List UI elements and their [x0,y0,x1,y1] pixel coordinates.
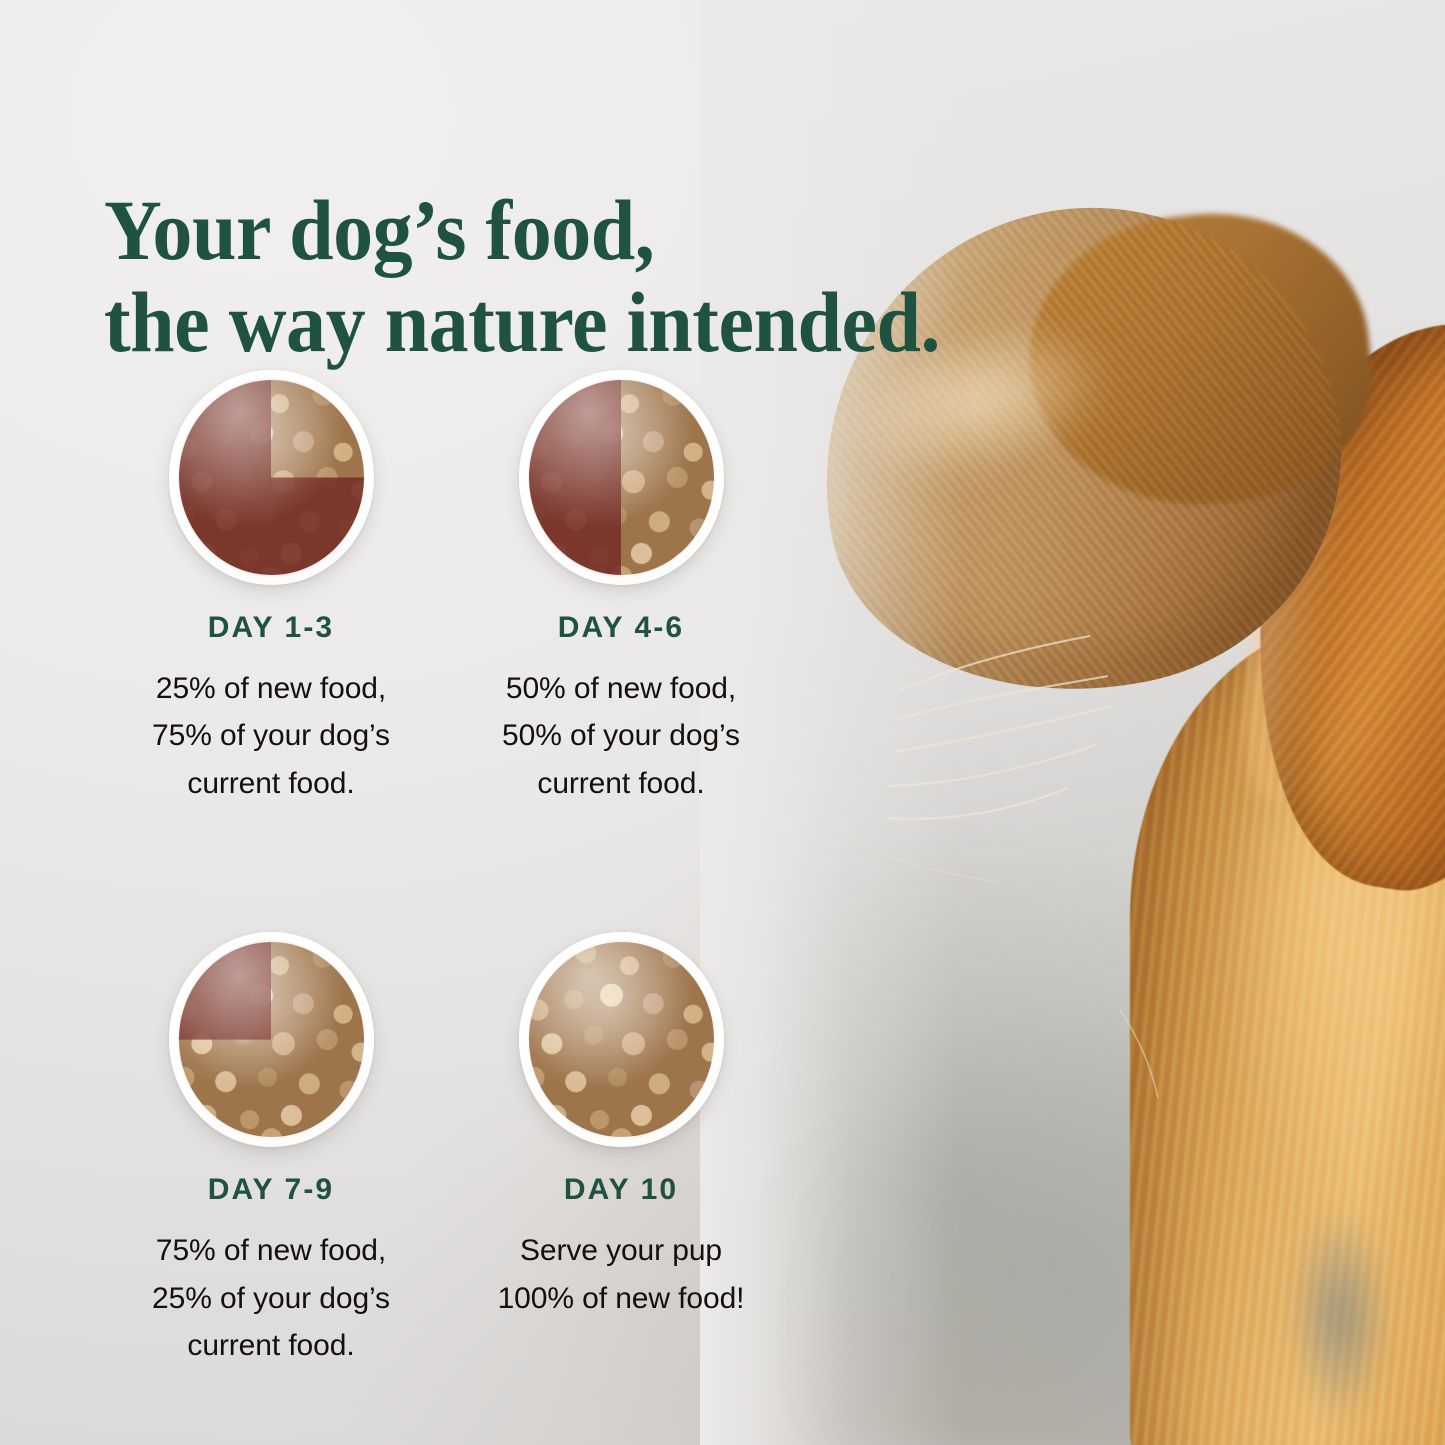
bowl-dish [169,370,374,585]
steps-row-top: DAY 1-3 25% of new food, 75% of your dog… [96,370,796,807]
step-day-1-3: DAY 1-3 25% of new food, 75% of your dog… [96,370,446,807]
old-food-overlay [178,940,365,1139]
bowl-contents [178,940,365,1139]
transition-steps: DAY 1-3 25% of new food, 75% of your dog… [96,370,796,1369]
desc-line: 25% of your dog’s [96,1275,446,1322]
desc-line: current food. [96,1322,446,1369]
desc-line: 75% of your dog’s [96,712,446,759]
step-description: 75% of new food, 25% of your dog’s curre… [96,1227,446,1369]
steps-row-bottom: DAY 7-9 75% of new food, 25% of your dog… [96,932,796,1369]
bowl-contents [528,378,715,577]
desc-line: current food. [96,760,446,807]
desc-line: 75% of new food, [96,1227,446,1274]
desc-line: Serve your pup [446,1227,796,1274]
step-day-4-6: DAY 4-6 50% of new food, 50% of your dog… [446,370,796,807]
desc-line: 25% of new food, [96,665,446,712]
bowl-contents [178,378,365,577]
step-day-10: DAY 10 Serve your pup 100% of new food! [446,932,796,1369]
headline-line-1: Your dog’s food, [104,182,654,278]
bowl-day-7-9 [169,932,374,1147]
desc-line: 50% of your dog’s [446,712,796,759]
bowl-dish [519,932,724,1147]
step-description: 50% of new food, 50% of your dog’s curre… [446,665,796,807]
bowl-day-4-6 [519,370,724,585]
old-food-overlay [528,940,715,1139]
step-day-7-9: DAY 7-9 75% of new food, 25% of your dog… [96,932,446,1369]
bowl-contents [528,940,715,1139]
feeding-transition-infographic: Your dog’s food, the way nature intended… [0,0,1445,1445]
page-title: Your dog’s food, the way nature intended… [104,184,997,370]
day-label: DAY 1-3 [96,611,446,645]
bowl-dish [519,370,724,585]
desc-line: current food. [446,760,796,807]
day-label: DAY 10 [446,1173,796,1207]
bowl-day-10 [519,932,724,1147]
old-food-overlay [178,378,365,577]
bowl-day-1-3 [169,370,374,585]
desc-line: 100% of new food! [446,1275,796,1322]
day-label: DAY 7-9 [96,1173,446,1207]
step-description: 25% of new food, 75% of your dog’s curre… [96,665,446,807]
headline-line-2: the way nature intended. [104,276,997,369]
bowl-dish [169,932,374,1147]
day-label: DAY 4-6 [446,611,796,645]
desc-line: 50% of new food, [446,665,796,712]
old-food-overlay [528,378,715,577]
dog-chest-shadow [1280,1220,1400,1445]
step-description: Serve your pup 100% of new food! [446,1227,796,1322]
